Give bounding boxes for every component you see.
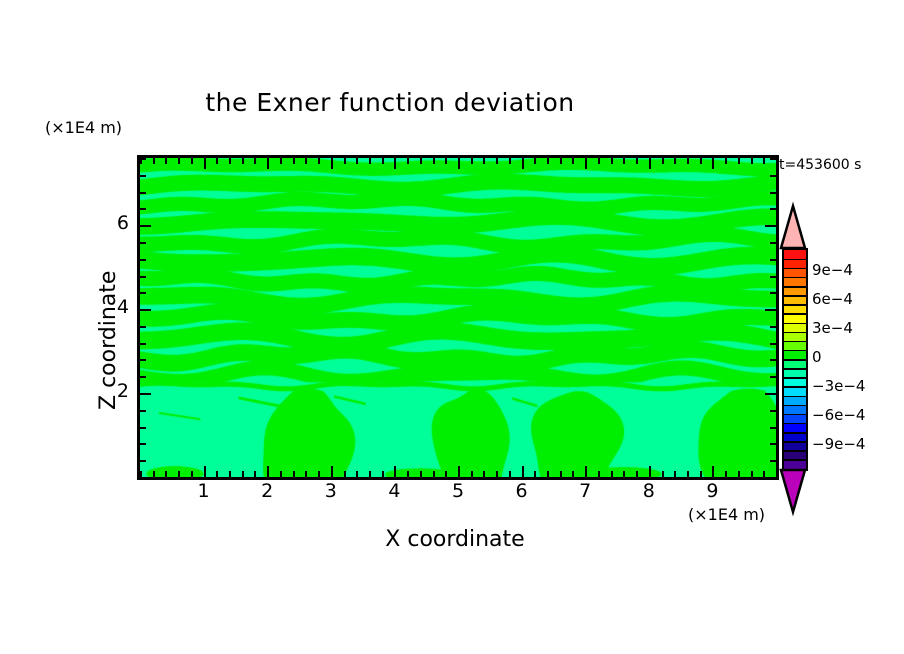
axis-tick	[471, 158, 473, 164]
axis-tick	[611, 471, 613, 477]
axis-tick	[140, 259, 146, 261]
colorbar-band-separator	[784, 432, 806, 434]
colorbar-band	[784, 460, 806, 470]
axis-tick	[318, 471, 320, 477]
colorbar-band-separator	[784, 259, 806, 261]
axis-tick	[776, 471, 778, 477]
axis-tick	[770, 208, 776, 210]
axis-tick	[191, 158, 193, 164]
x-tick-label: 6	[502, 480, 542, 502]
colorbar-band-separator	[784, 323, 806, 325]
axis-tick	[242, 471, 244, 477]
axis-tick	[509, 158, 511, 164]
axis-tick	[331, 158, 333, 169]
x-tick-label: 4	[374, 480, 414, 502]
axis-tick	[394, 466, 396, 477]
colorbar-band-separator	[784, 386, 806, 388]
axis-tick	[178, 471, 180, 477]
axis-tick	[458, 466, 460, 477]
axis-tick	[229, 471, 231, 477]
axis-tick	[572, 158, 574, 164]
axis-tick	[496, 158, 498, 164]
colorbar-band-separator	[784, 368, 806, 370]
axis-tick	[765, 309, 776, 311]
axis-tick	[765, 393, 776, 395]
axis-tick	[598, 158, 600, 164]
axis-tick	[280, 158, 282, 164]
x-tick-label: 7	[565, 480, 605, 502]
x-axis-unit-label: (×1E4 m)	[688, 505, 765, 524]
colorbar-tick-label: −9e−4	[812, 435, 865, 453]
colorbar-band-separator	[784, 450, 806, 452]
axis-tick	[191, 471, 193, 477]
axis-tick	[496, 471, 498, 477]
x-tick-label: 5	[438, 480, 478, 502]
colorbar-band-separator	[784, 423, 806, 425]
axis-tick	[534, 471, 536, 477]
colorbar-band-separator	[784, 341, 806, 343]
axis-tick	[153, 471, 155, 477]
colorbar-band-separator	[784, 377, 806, 379]
axis-tick	[611, 158, 613, 164]
colorbar-band-separator	[784, 313, 806, 315]
contour-plot-area	[137, 155, 779, 480]
axis-tick	[770, 460, 776, 462]
colorbar-tick-label: 6e−4	[812, 290, 853, 308]
axis-tick	[242, 158, 244, 164]
axis-tick	[178, 158, 180, 164]
axis-tick	[318, 158, 320, 164]
axis-tick	[140, 359, 146, 361]
axis-tick	[140, 292, 146, 294]
colorbar-band-separator	[784, 350, 806, 352]
axis-tick	[623, 158, 625, 164]
axis-tick	[636, 471, 638, 477]
axis-tick	[445, 158, 447, 164]
axis-tick	[382, 471, 384, 477]
axis-tick	[254, 158, 256, 164]
axis-tick	[369, 158, 371, 164]
axis-tick	[770, 259, 776, 261]
axis-tick	[356, 471, 358, 477]
axis-tick	[770, 192, 776, 194]
colorbar-band-separator	[784, 441, 806, 443]
axis-tick	[712, 158, 714, 169]
axis-tick	[140, 343, 146, 345]
axis-tick	[560, 471, 562, 477]
axis-tick	[547, 158, 549, 164]
x-tick-label: 8	[629, 480, 669, 502]
axis-tick	[204, 466, 206, 477]
colorbar-band-separator	[784, 359, 806, 361]
colorbar	[782, 248, 808, 471]
axis-tick	[687, 471, 689, 477]
axis-tick	[770, 292, 776, 294]
axis-tick	[407, 471, 409, 477]
colorbar-band-separator	[784, 396, 806, 398]
axis-tick	[776, 158, 778, 164]
axis-tick	[216, 158, 218, 164]
axis-tick	[140, 276, 146, 278]
axis-tick	[770, 359, 776, 361]
axis-tick	[344, 471, 346, 477]
y-tick-label: 4	[89, 296, 129, 318]
axis-tick	[483, 471, 485, 477]
axis-tick	[674, 158, 676, 164]
axis-tick	[770, 477, 776, 479]
axis-tick	[165, 158, 167, 164]
axis-tick	[165, 471, 167, 477]
axis-tick	[293, 471, 295, 477]
colorbar-tick-label: 3e−4	[812, 319, 853, 337]
axis-tick	[216, 471, 218, 477]
axis-tick	[765, 225, 776, 227]
axis-tick	[140, 410, 146, 412]
figure-root: the Exner function deviation (×1E4 m) (×…	[0, 0, 904, 654]
contour-field-canvas	[140, 158, 776, 477]
axis-tick	[140, 158, 146, 160]
axis-tick	[585, 158, 587, 169]
axis-tick	[649, 466, 651, 477]
x-axis-title: X coordinate	[137, 527, 773, 552]
page-title: the Exner function deviation	[0, 88, 780, 117]
axis-tick	[267, 158, 269, 169]
colorbar-band-separator	[784, 304, 806, 306]
axis-tick	[770, 276, 776, 278]
axis-tick	[534, 158, 536, 164]
axis-tick	[738, 158, 740, 164]
axis-tick	[560, 158, 562, 164]
axis-tick	[420, 158, 422, 164]
axis-tick	[140, 477, 146, 479]
axis-tick	[712, 466, 714, 477]
y-axis-unit-label: (×1E4 m)	[45, 118, 122, 137]
colorbar-band-separator	[784, 405, 806, 407]
x-tick-label: 3	[311, 480, 351, 502]
colorbar-band-separator	[784, 295, 806, 297]
axis-tick	[458, 158, 460, 169]
axis-tick	[751, 471, 753, 477]
time-annotation: t=453600 s	[779, 157, 861, 173]
axis-tick	[700, 471, 702, 477]
axis-tick	[280, 471, 282, 477]
axis-tick	[382, 158, 384, 164]
axis-tick	[674, 471, 676, 477]
axis-tick	[140, 393, 151, 395]
axis-tick	[471, 471, 473, 477]
axis-tick	[204, 158, 206, 169]
axis-tick	[770, 443, 776, 445]
axis-tick	[770, 158, 776, 160]
axis-tick	[725, 158, 727, 164]
axis-tick	[267, 466, 269, 477]
axis-tick	[725, 471, 727, 477]
axis-tick	[572, 471, 574, 477]
y-tick-label: 6	[89, 212, 129, 234]
axis-tick	[770, 343, 776, 345]
axis-tick	[649, 158, 651, 169]
colorbar-tick-label: −6e−4	[812, 406, 865, 424]
axis-tick	[770, 376, 776, 378]
colorbar-tick-label: 0	[812, 348, 822, 366]
axis-tick	[700, 158, 702, 164]
axis-tick	[763, 471, 765, 477]
y-tick-label: 2	[89, 380, 129, 402]
axis-tick	[140, 192, 146, 194]
axis-tick	[229, 158, 231, 164]
axis-tick	[687, 158, 689, 164]
colorbar-band-separator	[784, 277, 806, 279]
axis-tick	[140, 460, 146, 462]
axis-tick	[254, 471, 256, 477]
axis-tick	[140, 326, 146, 328]
colorbar-band-separator	[784, 268, 806, 270]
axis-tick	[140, 309, 151, 311]
axis-tick	[293, 158, 295, 164]
axis-tick	[509, 471, 511, 477]
axis-tick	[407, 158, 409, 164]
axis-tick	[433, 471, 435, 477]
axis-tick	[770, 175, 776, 177]
axis-tick	[369, 471, 371, 477]
axis-tick	[394, 158, 396, 169]
axis-tick	[140, 242, 146, 244]
axis-tick	[522, 466, 524, 477]
axis-tick	[140, 208, 146, 210]
colorbar-tick-label: −3e−4	[812, 377, 865, 395]
colorbar-tick-label: 9e−4	[812, 261, 853, 279]
x-tick-label: 1	[184, 480, 224, 502]
axis-tick	[770, 410, 776, 412]
axis-tick	[344, 158, 346, 164]
axis-tick	[585, 466, 587, 477]
axis-tick	[140, 175, 146, 177]
axis-tick	[623, 471, 625, 477]
axis-tick	[763, 158, 765, 164]
colorbar-band-separator	[784, 332, 806, 334]
x-tick-label: 9	[692, 480, 732, 502]
axis-tick	[140, 376, 146, 378]
axis-tick	[140, 427, 146, 429]
axis-tick	[547, 471, 549, 477]
axis-tick	[662, 158, 664, 164]
axis-tick	[636, 158, 638, 164]
axis-tick	[751, 158, 753, 164]
axis-tick	[433, 158, 435, 164]
axis-tick	[770, 242, 776, 244]
axis-tick	[445, 471, 447, 477]
axis-tick	[305, 158, 307, 164]
colorbar-band-separator	[784, 459, 806, 461]
axis-tick	[140, 443, 146, 445]
axis-tick	[770, 326, 776, 328]
axis-tick	[522, 158, 524, 169]
axis-tick	[331, 466, 333, 477]
axis-tick	[770, 427, 776, 429]
axis-tick	[356, 158, 358, 164]
axis-tick	[598, 471, 600, 477]
axis-tick	[305, 471, 307, 477]
x-tick-label: 2	[247, 480, 287, 502]
axis-tick	[153, 158, 155, 164]
colorbar-band-separator	[784, 286, 806, 288]
axis-tick	[140, 225, 151, 227]
axis-tick	[420, 471, 422, 477]
axis-tick	[483, 158, 485, 164]
axis-tick	[738, 471, 740, 477]
colorbar-band-separator	[784, 414, 806, 416]
axis-tick	[662, 471, 664, 477]
